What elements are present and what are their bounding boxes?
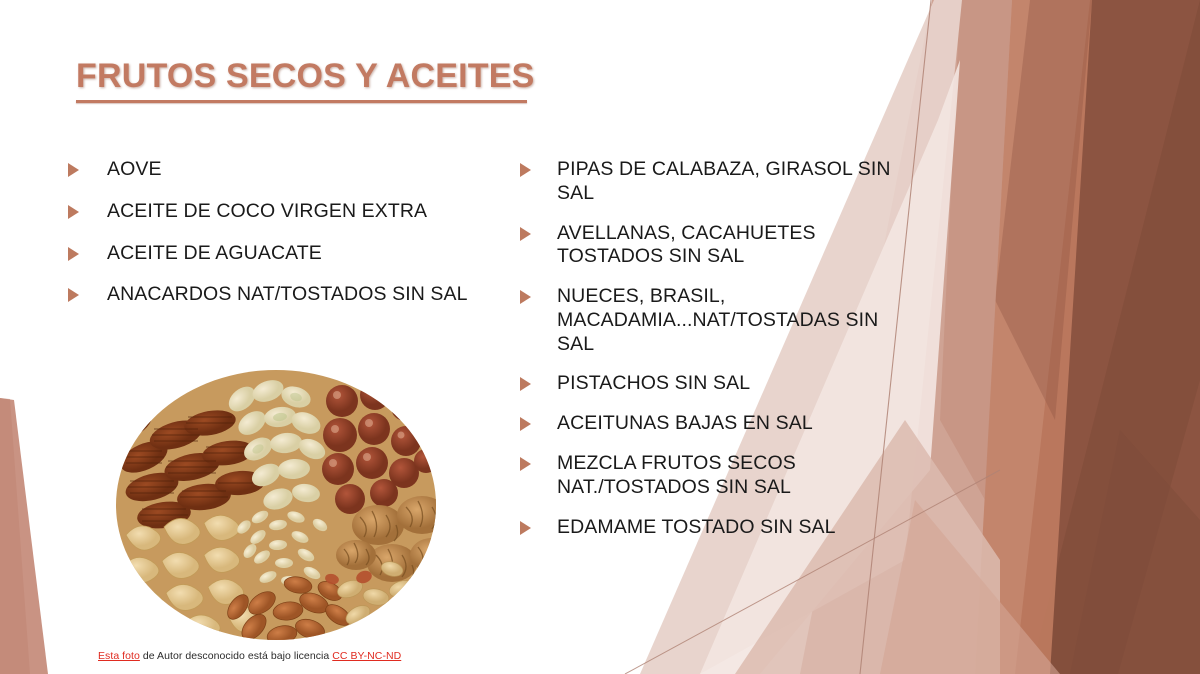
caption-license-link[interactable]: CC BY-NC-ND [332,650,401,662]
triangle-bullet-icon [520,377,531,391]
slide-canvas: FRUTOS SECOS Y ACEITES AOVE ACEITE DE CO… [0,0,1200,674]
list-item[interactable]: ACEITE DE AGUACATE [68,242,498,266]
triangle-bullet-icon [68,288,79,302]
triangle-bullet-icon [520,417,531,431]
triangle-bullet-icon [68,205,79,219]
list-item-label: MEZCLA FRUTOS SECOS NAT./TOSTADOS SIN SA… [557,452,920,500]
caption-source-link[interactable]: Esta foto [98,650,140,662]
bullet-list-right: PIPAS DE CALABAZA, GIRASOL SIN SAL AVELL… [520,158,920,555]
triangle-bullet-icon [520,290,531,304]
triangle-bullet-icon [68,247,79,261]
list-item[interactable]: AVELLANAS, CACAHUETES TOSTADOS SIN SAL [520,222,920,270]
list-item-label: ANACARDOS NAT/TOSTADOS SIN SAL [107,283,498,307]
list-item[interactable]: PIPAS DE CALABAZA, GIRASOL SIN SAL [520,158,920,206]
list-item-label: PISTACHOS SIN SAL [557,372,920,396]
bullet-list-left: AOVE ACEITE DE COCO VIRGEN EXTRA ACEITE … [68,158,498,325]
photo-caption: Esta foto de Autor desconocido está bajo… [98,650,458,662]
list-item-label: AOVE [107,158,498,182]
list-item[interactable]: ANACARDOS NAT/TOSTADOS SIN SAL [68,283,498,307]
page-title: FRUTOS SECOS Y ACEITES [76,58,636,95]
list-item-label: ACEITE DE COCO VIRGEN EXTRA [107,200,498,224]
title-underline [76,100,527,103]
list-item-label: ACEITUNAS BAJAS EN SAL [557,412,920,436]
photo-figure [92,365,460,643]
triangle-bullet-icon [520,521,531,535]
list-item-label: AVELLANAS, CACAHUETES TOSTADOS SIN SAL [557,222,920,270]
triangle-bullet-icon [520,457,531,471]
list-item-label: EDAMAME TOSTADO SIN SAL [557,516,920,540]
list-item-label: PIPAS DE CALABAZA, GIRASOL SIN SAL [557,158,920,206]
list-item-label: ACEITE DE AGUACATE [107,242,498,266]
list-item[interactable]: EDAMAME TOSTADO SIN SAL [520,516,920,540]
triangle-bullet-icon [520,163,531,177]
list-item[interactable]: PISTACHOS SIN SAL [520,372,920,396]
caption-middle-text: de Autor desconocido está bajo licencia [140,650,332,662]
mixed-nuts-photo[interactable] [92,365,460,643]
title-block: FRUTOS SECOS Y ACEITES [76,58,636,103]
list-item[interactable]: MEZCLA FRUTOS SECOS NAT./TOSTADOS SIN SA… [520,452,920,500]
list-item[interactable]: ACEITUNAS BAJAS EN SAL [520,412,920,436]
list-item[interactable]: NUECES, BRASIL, MACADAMIA...NAT/TOSTADAS… [520,285,920,356]
list-item-label: NUECES, BRASIL, MACADAMIA...NAT/TOSTADAS… [557,285,920,356]
list-item[interactable]: AOVE [68,158,498,182]
list-item[interactable]: ACEITE DE COCO VIRGEN EXTRA [68,200,498,224]
triangle-bullet-icon [68,163,79,177]
triangle-bullet-icon [520,227,531,241]
